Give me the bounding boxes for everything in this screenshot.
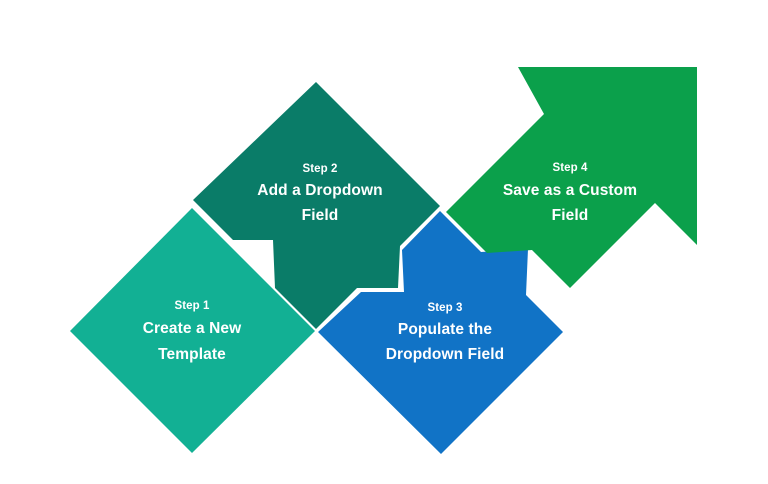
step-2-label: Step 2 [302, 163, 337, 175]
step-1-title-line-2: Template [158, 346, 226, 363]
step-2-title-line-1: Add a Dropdown [257, 182, 382, 199]
step-3-label: Step 3 [427, 302, 462, 314]
step-1-title-line-1: Create a New [143, 320, 242, 337]
process-diagram: Step 1 Create a New Template Step 2 Add … [0, 0, 768, 484]
process-diagram-svg: Step 1 Create a New Template Step 2 Add … [0, 0, 768, 484]
step-3-title-line-2: Dropdown Field [386, 346, 505, 363]
step-3-title-line-1: Populate the [398, 321, 492, 338]
step-4-label: Step 4 [552, 162, 588, 174]
step-2-title-line-2: Field [302, 207, 339, 224]
step-4-title-line-1: Save as a Custom [503, 182, 637, 199]
step-4-title-line-2: Field [552, 207, 589, 224]
step-1-label: Step 1 [174, 300, 210, 312]
